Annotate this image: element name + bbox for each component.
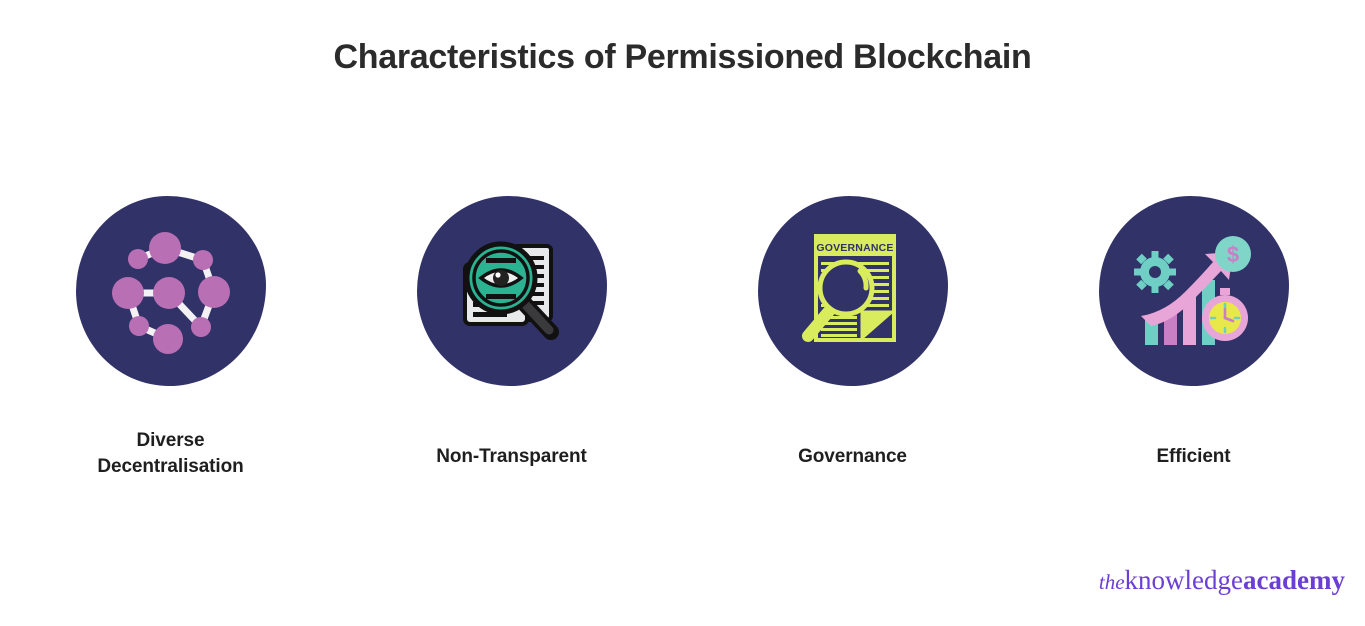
logo-academy: academy (1243, 565, 1345, 595)
card-label-non-transparent: Non-Transparent (436, 444, 587, 470)
icon-blob-efficient: $ (1099, 196, 1289, 386)
infographic-page: Characteristics of Permissioned Blockcha… (0, 0, 1365, 626)
characteristic-card-non-transparent: Non-Transparent (341, 196, 682, 496)
icon-blob-governance: GOVERNANCE (758, 196, 948, 386)
governance-document-magnifier-icon: GOVERNANCE (788, 226, 918, 356)
growth-chart-arrow-icon: $ (1129, 226, 1259, 356)
network-nodes-icon (106, 226, 236, 356)
icon-blob-non-transparent (417, 196, 607, 386)
logo-knowledge: knowledge (1125, 565, 1243, 595)
gear-icon (1134, 251, 1176, 293)
the-knowledge-academy-logo: theknowledgeacademy (1099, 567, 1345, 594)
dollar-coin-icon: $ (1215, 236, 1251, 272)
magnifier-eye-document-icon (447, 226, 577, 356)
card-label-governance: Governance (798, 444, 907, 470)
card-label-efficient: Efficient (1156, 444, 1230, 470)
characteristic-card-governance: GOVERNANCE (682, 196, 1023, 496)
characteristic-card-diverse-decentralisation: Diverse Decentralisation (0, 196, 341, 496)
page-title: Characteristics of Permissioned Blockcha… (0, 38, 1365, 77)
card-label-diverse-decentralisation: Diverse Decentralisation (97, 428, 243, 480)
governance-document-heading: GOVERNANCE (816, 242, 893, 254)
logo-the: the (1099, 570, 1125, 594)
icon-blob-diverse-decentralisation (76, 196, 266, 386)
svg-text:$: $ (1226, 242, 1238, 267)
characteristics-row: Diverse Decentralisation (0, 196, 1365, 496)
characteristic-card-efficient: $ (1023, 196, 1364, 496)
